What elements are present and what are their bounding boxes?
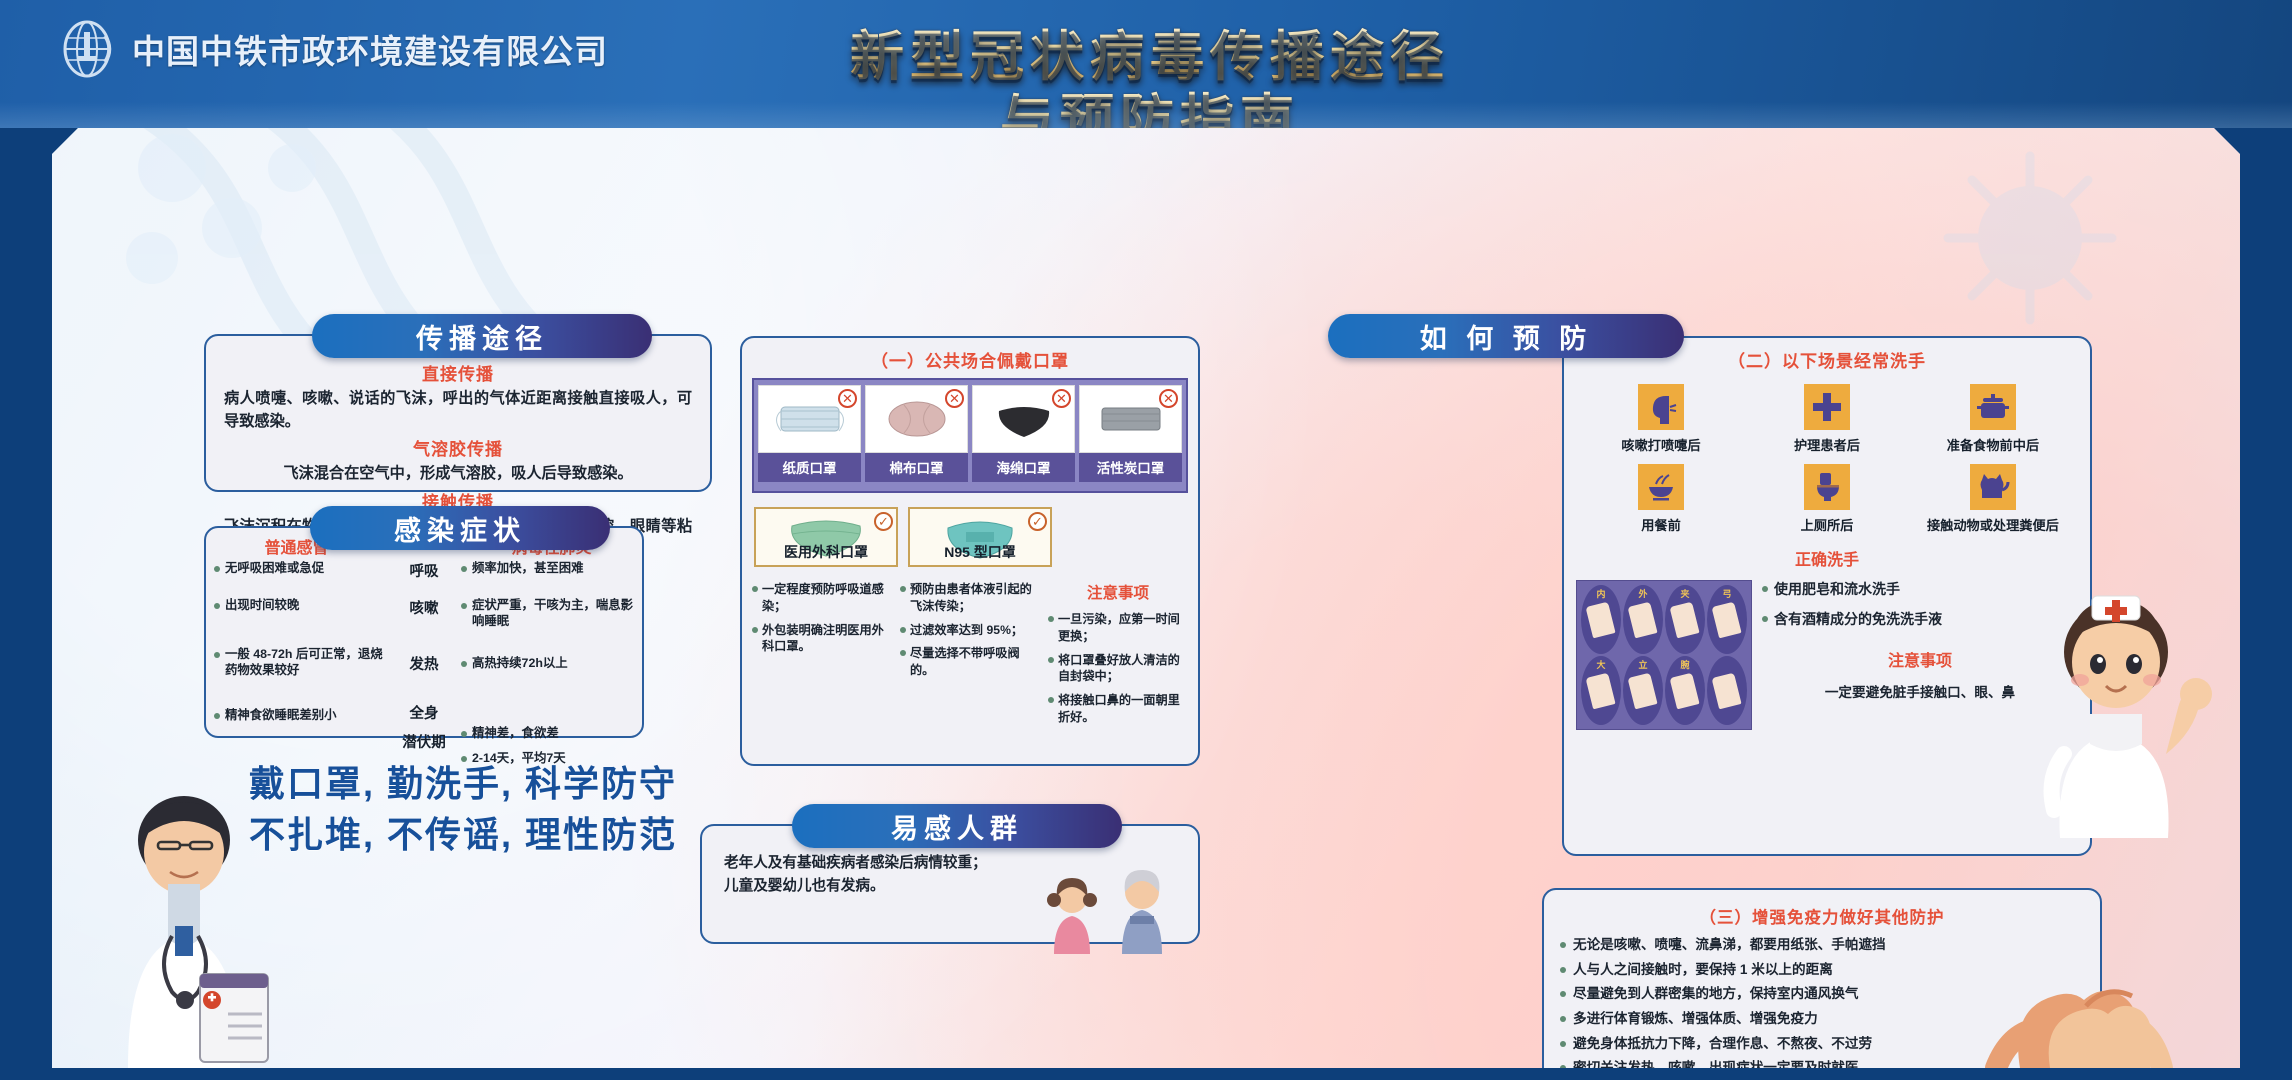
card-infection-symptoms: 普通感冒 病毒性肺炎 无呼吸困难或急促 出现时间较晚 一般 — [204, 526, 644, 738]
immunity-item-2: 尽量避免到人群密集的地方，保持室内通风换气 — [1573, 985, 1858, 1003]
wash-step-char-3: 夹 — [1680, 587, 1689, 600]
symptom-cold-3: 精神食欲睡眠差别小 — [225, 707, 337, 723]
wash-step-char-6: 立 — [1638, 658, 1647, 671]
toilet-icon — [1804, 464, 1850, 510]
table-row: 一般 48-72h 后可正常，退烧药物效果较好 — [214, 646, 387, 698]
sponge-mask-photo: ✕ — [972, 385, 1075, 453]
header-banner: 中国中铁市政环境建设有限公司 新型冠状病毒传播途径 与预防指南 — [0, 0, 2292, 128]
bullet-dot-icon — [1048, 616, 1054, 622]
wash-step-1: 内 — [1581, 585, 1621, 654]
mask-cell-sponge: ✕ 海绵口罩 — [972, 385, 1075, 482]
carbon-mask-photo: ✕ — [1079, 385, 1182, 453]
check-badge-icon: ✓ — [1028, 512, 1047, 531]
bad-mask-grid: ✕ 纸质口罩 ✕ 棉布口罩 ✕ 海绵口罩 — [752, 378, 1188, 493]
section-header-transmission: 传播途径 — [312, 314, 652, 358]
table-row: 精神差，食欲差 — [461, 725, 634, 741]
immunity-item-3: 多进行体育锻炼、增强体质、增强免疫力 — [1573, 1010, 1818, 1028]
table-row: 精神食欲睡眠差别小 — [214, 707, 387, 723]
wash-step-char-5: 大 — [1596, 658, 1605, 671]
bullet-dot-icon — [1560, 991, 1566, 997]
mask-name-n95: N95 型口罩 — [910, 542, 1050, 562]
virus-background-decoration — [1930, 138, 2130, 338]
mask-caution-column: 注意事项 一旦污染，应第一时间更换； 将口罩叠好放人清洁的自封袋中； 将接触口鼻… — [1048, 581, 1188, 733]
mask-caution-1: 将口罩叠好放人清洁的自封袋中； — [1058, 652, 1188, 686]
scene-label-animals: 接触动物或处理粪便后 — [1910, 515, 2076, 534]
mask-cell-carbon: ✕ 活性炭口罩 — [1079, 385, 1182, 482]
wash-step-6: 立 — [1623, 656, 1663, 725]
good-mask-row: ✓ 医用外科口罩 ✓ N95 型口罩 — [754, 507, 1186, 567]
bullet-dot-icon — [461, 603, 467, 609]
mask-cell-surgical: ✓ 医用外科口罩 — [754, 507, 898, 567]
scene-animals: 接触动物或处理粪便后 — [1910, 464, 2076, 534]
mask-section-title: （一）公共场合佩戴口罩 — [742, 338, 1198, 378]
bullet-dot-icon — [900, 650, 906, 656]
section-header-prevention: 如 何 预 防 — [1328, 314, 1684, 358]
list-item: 预防由患者体液引起的飞沫传染； — [900, 581, 1040, 615]
bullet-dot-icon — [752, 627, 758, 633]
mask-caution-0: 一旦污染，应第一时间更换； — [1058, 611, 1188, 645]
wash-step-4: 弓 — [1707, 585, 1747, 654]
bullet-dot-icon — [1560, 942, 1566, 948]
check-badge-icon: ✓ — [874, 512, 893, 531]
bullet-dot-icon — [900, 586, 906, 592]
cooking-pot-icon — [1970, 384, 2016, 430]
transmission-head-0: 直接传播 — [224, 360, 692, 385]
correct-wash-item-1: 含有酒精成分的免洗洗手液 — [1774, 610, 1942, 629]
handwashing-scene-grid: 咳嗽打喷嚏后 护理患者后 准备食物前中后 — [1578, 384, 2076, 544]
scene-label-food-prep: 准备食物前中后 — [1910, 435, 2076, 454]
bullet-dot-icon — [1048, 697, 1054, 703]
cat-icon — [1970, 464, 2016, 510]
bullet-dot-icon — [461, 661, 467, 667]
symptoms-pneumonia-column: 频率加快，甚至困难 症状严重，干咳为主，喘息影响睡眠 高热持续72h以上 精神差… — [461, 560, 634, 776]
list-item: 一旦污染，应第一时间更换； — [1048, 611, 1188, 645]
n95-note-1: 过滤效率达到 95%； — [910, 622, 1023, 639]
cross-badge-icon: ✕ — [1052, 389, 1071, 408]
bullet-dot-icon — [1560, 1016, 1566, 1022]
symptom-pneumonia-1: 症状严重，干咳为主，喘息影响睡眠 — [472, 597, 634, 630]
mask-name-carbon: 活性炭口罩 — [1079, 453, 1182, 482]
bullet-dot-icon — [1560, 967, 1566, 973]
scene-before-meal: 用餐前 — [1578, 464, 1744, 534]
symptom-label-4: 潜伏期 — [387, 723, 461, 752]
immunity-item-1: 人与人之间接触时，要保持 1 米以上的距离 — [1573, 961, 1833, 979]
paper-mask-photo: ✕ — [758, 385, 861, 453]
handshake-illustration — [1900, 918, 2240, 1068]
sneezing-head-icon — [1638, 384, 1684, 430]
company-name: 中国中铁市政环境建设有限公司 — [132, 25, 608, 73]
n95-note-0: 预防由患者体液引起的飞沫传染； — [910, 581, 1040, 615]
table-row: 无呼吸困难或急促 — [214, 560, 387, 588]
wash-step-2: 外 — [1623, 585, 1663, 654]
handwashing-steps-illustration: 内 外 夹 弓 大 立 腕 — [1576, 580, 1752, 730]
wash-step-3: 夹 — [1665, 585, 1705, 654]
wash-step-char-7: 腕 — [1680, 658, 1689, 671]
symptom-cold-1: 出现时间较晚 — [225, 597, 299, 613]
section-header-symptoms: 感染症状 — [310, 506, 610, 550]
table-row: 出现时间较晚 — [214, 597, 387, 637]
scene-toilet: 上厕所后 — [1744, 464, 1910, 534]
symptoms-label-column: 呼吸 咳嗽 发热 全身 潜伏期 — [387, 560, 461, 776]
symptom-label-0: 呼吸 — [387, 560, 461, 588]
symptoms-cold-column: 无呼吸困难或急促 出现时间较晚 一般 48-72h 后可正常，退烧药物效果较好 … — [214, 560, 387, 776]
list-item: 过滤效率达到 95%； — [900, 622, 1040, 639]
scene-label-before-meal: 用餐前 — [1578, 515, 1744, 534]
wash-step-char-1: 内 — [1596, 587, 1605, 600]
symptom-cold-0: 无呼吸困难或急促 — [225, 560, 324, 576]
cloth-mask-photo: ✕ — [865, 385, 968, 453]
poster-root: 中国中铁市政环境建设有限公司 新型冠状病毒传播途径 与预防指南 — [0, 0, 2292, 1080]
wash-step-5: 大 — [1581, 656, 1621, 725]
surgical-notes-column: 一定程度预防呼吸道感染； 外包装明确注明医用外科口罩。 — [752, 581, 892, 733]
mask-cell-paper: ✕ 纸质口罩 — [758, 385, 861, 482]
list-item: 将接触口鼻的一面朝里折好。 — [1048, 692, 1188, 726]
title-line-1: 新型冠状病毒传播途径 — [770, 26, 1530, 89]
transmission-head-1: 气溶胶传播 — [224, 435, 692, 460]
mask-name-paper: 纸质口罩 — [758, 453, 861, 482]
card-mask-guidance: （一）公共场合佩戴口罩 ✕ 纸质口罩 ✕ 棉布口罩 — [740, 336, 1200, 766]
transmission-text-0: 病人喷嚏、咳嗽、说话的飞沫，呼出的气体近距离接触直接吸人，可导致感染。 — [224, 388, 692, 433]
list-item: 一定程度预防呼吸道感染； — [752, 581, 892, 615]
bullet-dot-icon — [461, 731, 467, 737]
wash-step-8 — [1707, 656, 1747, 725]
nurse-illustration — [2000, 548, 2230, 848]
bullet-dot-icon — [214, 713, 220, 719]
mask-caution-2: 将接触口鼻的一面朝里折好。 — [1058, 692, 1188, 726]
immunity-item-5: 密切关注发热、咳嗽，出现症状一定要及时就医 — [1573, 1059, 1858, 1068]
list-item: 外包装明确注明医用外科口罩。 — [752, 622, 892, 656]
bullet-dot-icon — [1762, 586, 1768, 592]
mask-name-surgical: 医用外科口罩 — [756, 542, 896, 562]
bullet-dot-icon — [752, 586, 758, 592]
wash-step-char-4: 弓 — [1722, 587, 1731, 600]
mask-cell-cloth: ✕ 棉布口罩 — [865, 385, 968, 482]
mask-notes-columns: 一定程度预防呼吸道感染； 外包装明确注明医用外科口罩。 预防由患者体液引起的飞沫… — [752, 581, 1188, 733]
symptom-cold-2: 一般 48-72h 后可正常，退烧药物效果较好 — [225, 646, 387, 679]
cross-badge-icon: ✕ — [838, 389, 857, 408]
correct-wash-item-0: 使用肥皂和流水洗手 — [1774, 580, 1900, 599]
mask-caution-title: 注意事项 — [1048, 581, 1188, 603]
cross-badge-icon: ✕ — [945, 389, 964, 408]
bullet-dot-icon — [1048, 657, 1054, 663]
bullet-dot-icon — [461, 566, 467, 572]
bullet-dot-icon — [1560, 1041, 1566, 1047]
transmission-text-1: 飞沫混合在空气中，形成气溶胶，吸人后导致感染。 — [224, 463, 692, 486]
family-illustration — [1032, 868, 1192, 954]
crec-globe-logo-icon — [56, 18, 118, 80]
n95-notes-column: 预防由患者体液引起的飞沫传染； 过滤效率达到 95%； 尽量选择不带呼吸阀的。 — [900, 581, 1040, 733]
n95-note-2: 尽量选择不带呼吸阀的。 — [910, 645, 1040, 679]
list-item: 将口罩叠好放人清洁的自封袋中； — [1048, 652, 1188, 686]
symptom-pneumonia-3: 精神差，食欲差 — [472, 725, 559, 741]
symptom-label-1: 咳嗽 — [387, 588, 461, 637]
symptom-label-2: 发热 — [387, 637, 461, 698]
doctor-illustration — [72, 768, 312, 1068]
bullet-dot-icon — [1560, 1065, 1566, 1068]
scene-food-prep: 准备食物前中后 — [1910, 384, 2076, 454]
symptom-label-3: 全身 — [387, 698, 461, 723]
surgical-note-0: 一定程度预防呼吸道感染； — [762, 581, 892, 615]
mask-cell-n95: ✓ N95 型口罩 — [908, 507, 1052, 567]
scene-label-cough: 咳嗽打喷嚏后 — [1578, 435, 1744, 454]
symptoms-table-body: 无呼吸困难或急促 出现时间较晚 一般 48-72h 后可正常，退烧药物效果较好 … — [206, 560, 642, 776]
surgical-note-1: 外包装明确注明医用外科口罩。 — [762, 622, 892, 656]
poster-body: 传播途径 直接传播 病人喷嚏、咳嗽、说话的飞沫，呼出的气体近距离接触直接吸人，可… — [52, 128, 2240, 1068]
mask-name-sponge: 海绵口罩 — [972, 453, 1075, 482]
table-row: 频率加快，甚至困难 — [461, 560, 634, 588]
list-item: 尽量选择不带呼吸阀的。 — [900, 645, 1040, 679]
section-header-susceptible: 易感人群 — [792, 804, 1122, 848]
bullet-dot-icon — [900, 627, 906, 633]
bullet-dot-icon — [1762, 616, 1768, 622]
table-row: 症状严重，干咳为主，喘息影响睡眠 — [461, 597, 634, 646]
symptom-pneumonia-2: 高热持续72h以上 — [472, 655, 568, 671]
symptom-pneumonia-0: 频率加快，甚至困难 — [472, 560, 584, 576]
noodle-bowl-icon — [1638, 464, 1684, 510]
bullet-dot-icon — [214, 652, 220, 658]
scene-label-toilet: 上厕所后 — [1744, 515, 1910, 534]
table-row: 高热持续72h以上 — [461, 655, 634, 716]
wash-step-char-2: 外 — [1638, 587, 1647, 600]
scene-label-patient-care: 护理患者后 — [1744, 435, 1910, 454]
wash-step-7: 腕 — [1665, 656, 1705, 725]
bullet-dot-icon — [214, 566, 220, 572]
immunity-item-4: 避免身体抵抗力下降，合理作息、不熬夜、不过劳 — [1573, 1035, 1872, 1053]
mask-name-cloth: 棉布口罩 — [865, 453, 968, 482]
cross-badge-icon: ✕ — [1159, 389, 1178, 408]
immunity-item-0: 无论是咳嗽、喷嚏、流鼻涕，都要用纸张、手帕遮挡 — [1573, 936, 1886, 954]
scene-patient-care: 护理患者后 — [1744, 384, 1910, 454]
company-logo-block: 中国中铁市政环境建设有限公司 — [56, 18, 608, 80]
medical-cross-icon — [1804, 384, 1850, 430]
scene-cough: 咳嗽打喷嚏后 — [1578, 384, 1744, 454]
bullet-dot-icon — [214, 603, 220, 609]
